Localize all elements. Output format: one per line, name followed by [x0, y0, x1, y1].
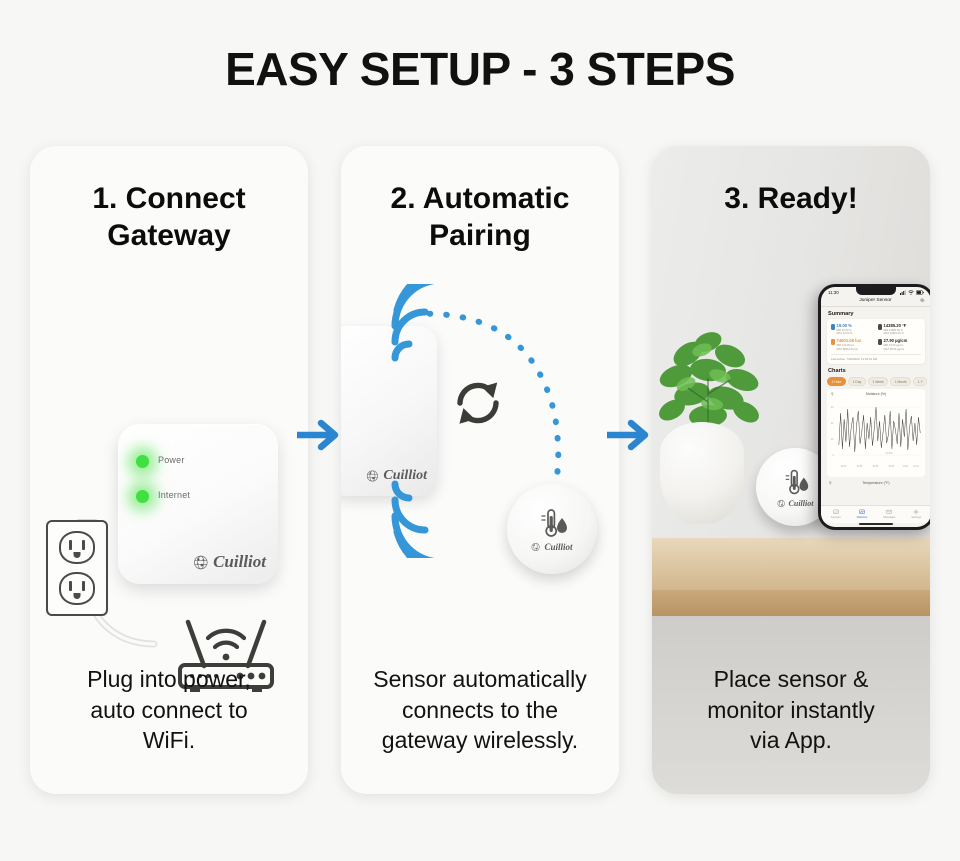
filter-1-day[interactable]: 1 Day — [848, 377, 866, 386]
step-3-caption-line-2: monitor instantly — [666, 695, 916, 726]
svg-text:20: 20 — [831, 422, 834, 425]
step-2-scene: Cuilliot — [341, 276, 619, 666]
svg-text:10:40: 10:40 — [872, 465, 878, 468]
svg-text:10: 10 — [831, 438, 834, 441]
metric-max: MAX 38.00 µg/cm — [884, 348, 908, 351]
brand-logo: Cuilliot — [193, 552, 266, 572]
step-3-title-line-1: 3. Ready! — [652, 180, 930, 217]
sync-icon — [447, 372, 509, 434]
chart-title: Moisture (%) — [866, 392, 886, 396]
step-1-title-line-1: 1. Connect — [30, 180, 308, 217]
wifi-icon — [908, 290, 914, 295]
metric-max: MAX 88210.00 lux — [837, 348, 862, 351]
globe-logo-icon — [366, 469, 380, 483]
page-title: EASY SETUP - 3 STEPS — [0, 0, 960, 92]
step-2-title-line-2: Pairing — [341, 217, 619, 254]
magnifier-icon[interactable]: ⚲ — [829, 481, 831, 485]
metric-light: 74501.08 lux MIN 120.00 lux MAX 88210.00… — [831, 338, 874, 350]
light-icon — [831, 339, 835, 345]
step-1-caption-line-2: auto connect to — [44, 695, 294, 726]
home-indicator — [859, 523, 893, 525]
step-2-title-line-1: 2. Automatic — [341, 180, 619, 217]
svg-text:11:10: 11:10 — [913, 465, 919, 468]
step-1-title-line-2: Gateway — [30, 217, 308, 254]
gear-icon[interactable] — [920, 298, 925, 303]
arrow-right-icon — [607, 413, 651, 457]
app-header: chevron-left-icon Juniper Sensor — [821, 296, 930, 307]
status-time: 11:30 — [828, 290, 839, 295]
temperature-icon — [878, 324, 882, 330]
metric-value: 14385.20 °F — [884, 323, 907, 328]
metric-body: 14385.20 °F MIN 13820.00 °F MAX 14901.00… — [884, 323, 907, 335]
wall-outlet — [46, 520, 108, 616]
conductivity-icon — [878, 339, 882, 345]
messages-icon[interactable] — [886, 509, 892, 515]
wooden-shelf-front — [652, 590, 930, 616]
metric-max: MAX 23.00 % — [837, 332, 853, 335]
moisture-icon — [831, 324, 835, 330]
filter-1-hour[interactable]: 1 Hour — [827, 377, 846, 386]
bottom-tab-bar[interactable]: Sensors Statistics — [821, 505, 930, 523]
step-2-caption: Sensor automatically connects to the gat… — [341, 664, 619, 756]
chart-header: ⚲ Moisture (%) — [830, 391, 922, 397]
step-1-caption: Plug into power, auto connect to WiFi. — [30, 664, 308, 756]
metric-value: 19.00 % — [837, 323, 853, 328]
tab-label: Statistics — [857, 516, 868, 519]
metric-max: MAX 14901.00 °F — [884, 332, 907, 335]
globe-logo-icon — [193, 554, 210, 571]
step-card-2[interactable]: 2. Automatic Pairing Cuilliot — [341, 146, 619, 794]
sensors-icon[interactable] — [833, 509, 839, 515]
tab-settings[interactable]: Settings — [911, 509, 921, 519]
plant-pot — [660, 422, 744, 524]
last-active-text: Last Active: 7/00/2023, 11:18:01 AM — [831, 354, 921, 361]
phone-notch — [856, 287, 896, 295]
summary-card: 19.00 % MIN 15.00 % MAX 23.00 % 14385.20… — [827, 319, 925, 364]
wifi-signal-arcs-top-icon — [391, 284, 461, 362]
chart-range-filters[interactable]: 1 Hour 1 Day 1 Week 1 Month 1 Y — [821, 376, 930, 389]
filter-1-month[interactable]: 1 Month — [890, 377, 911, 386]
filter-1-year[interactable]: 1 Y — [913, 377, 927, 386]
power-led-label: Power — [158, 455, 185, 465]
step-2-caption-line-3: gateway wirelessly. — [355, 725, 605, 756]
brand-name: Cuilliot — [789, 499, 814, 508]
tab-label: Settings — [911, 516, 921, 519]
globe-logo-icon — [777, 499, 786, 508]
metric-value: 74501.08 lux — [837, 338, 862, 343]
internet-led-icon — [136, 490, 149, 503]
brand-logo: Cuilliot — [777, 499, 814, 508]
battery-icon — [916, 290, 924, 295]
brand-name: Cuilliot — [213, 552, 266, 572]
step-1-caption-line-3: WiFi. — [44, 725, 294, 756]
step-card-3[interactable]: Cuilliot 11:30 — [652, 146, 930, 794]
phone-screen[interactable]: 11:30 — [821, 287, 930, 527]
status-icons — [900, 290, 924, 295]
step-2-caption-line-1: Sensor automatically — [355, 664, 605, 695]
internet-led-label: Internet — [158, 490, 190, 500]
outlet-prong-right — [82, 581, 85, 591]
outlet-prong-left — [69, 540, 72, 550]
outlet-socket-bottom — [59, 572, 95, 605]
metric-body: 27.90 µg/cm MIN 19.00 µg/cm MAX 38.00 µg… — [884, 338, 908, 350]
metric-temperature: 14385.20 °F MIN 13820.00 °F MAX 14901.00… — [878, 323, 921, 335]
outlet-ground-pin — [74, 552, 81, 558]
metric-body: 74501.08 lux MIN 120.00 lux MAX 88210.00… — [837, 338, 862, 350]
step-1-caption-line-1: Plug into power, — [44, 664, 294, 695]
chart-moisture[interactable]: ⚲ Moisture (%) 3020 — [827, 389, 925, 477]
outlet-prong-right — [82, 540, 85, 550]
brand-name: Cuilliot — [544, 542, 572, 552]
globe-logo-icon — [531, 542, 541, 552]
svg-text:10:36: 10:36 — [857, 465, 863, 468]
charts-heading: Charts — [821, 364, 930, 376]
temperature-humidity-sensor: Cuilliot — [507, 484, 597, 574]
summary-grid: 19.00 % MIN 15.00 % MAX 23.00 % 14385.20… — [831, 323, 921, 351]
filter-1-week[interactable]: 1 Week — [868, 377, 888, 386]
magnifier-icon[interactable]: ⚲ — [831, 392, 833, 396]
outlet-ground-pin — [74, 593, 81, 599]
svg-text:30: 30 — [831, 406, 834, 409]
metric-value: 27.90 µg/cm — [884, 338, 908, 343]
cellular-icon — [900, 290, 906, 295]
svg-text:0: 0 — [833, 454, 835, 457]
step-2-caption-line-2: connects to the — [355, 695, 605, 726]
svg-text:10:50: 10:50 — [888, 465, 894, 468]
svg-text:10:30: 10:30 — [841, 465, 847, 468]
metric-body: 19.00 % MIN 15.00 % MAX 23.00 % — [837, 323, 853, 335]
metric-moisture: 19.00 % MIN 15.00 % MAX 23.00 % — [831, 323, 874, 335]
step-3-caption: Place sensor & monitor instantly via App… — [652, 664, 930, 756]
thermometer-humidity-icon — [535, 506, 569, 540]
tab-sensors[interactable]: Sensors — [831, 509, 841, 519]
step-3-caption-line-3: via App. — [666, 725, 916, 756]
step-1-scene: Power Internet Cuilliot — [30, 276, 308, 666]
svg-text:-10.00%: -10.00% — [885, 453, 893, 455]
smartphone[interactable]: 11:30 — [818, 284, 930, 530]
metric-min: MIN 120.00 lux — [837, 344, 862, 347]
metric-min: MIN 19.00 µg/cm — [884, 344, 908, 347]
wifi-signal-arcs-bottom-icon — [391, 480, 461, 558]
chart-temperature-header: ⚲ Temperature (°F) — [821, 479, 930, 486]
step-card-1[interactable]: 1. Connect Gateway Power Internet — [30, 146, 308, 794]
thermometer-humidity-icon — [780, 467, 810, 497]
step-3-caption-line-1: Place sensor & — [666, 664, 916, 695]
tab-label: Sensors — [831, 516, 841, 519]
chart-icon[interactable] — [859, 509, 865, 515]
gear-icon[interactable] — [920, 298, 925, 303]
svg-text:11:00: 11:00 — [903, 465, 909, 468]
tab-label: Messages — [883, 516, 895, 519]
summary-heading: Summary — [821, 307, 930, 319]
metric-conductivity: 27.90 µg/cm MIN 19.00 µg/cm MAX 38.00 µg… — [878, 338, 921, 350]
app-header-title: Juniper Sensor — [859, 298, 891, 303]
chart-canvas: 3020 100 10:3010:36 10:4010:50 11:0011:1… — [830, 397, 922, 471]
arrow-right-icon — [297, 413, 341, 457]
outlet-prong-left — [69, 581, 72, 591]
step-1-title: 1. Connect Gateway — [30, 180, 308, 254]
chart-title: Temperature (°F) — [862, 481, 889, 485]
tab-messages[interactable]: Messages — [883, 509, 895, 519]
brand-logo: Cuilliot — [531, 542, 572, 552]
gateway-device: Power Internet Cuilliot — [118, 424, 278, 584]
settings-icon[interactable] — [913, 509, 919, 515]
step-3-title: 3. Ready! — [652, 180, 930, 217]
steps-row: 1. Connect Gateway Power Internet — [30, 146, 930, 794]
step-2-title: 2. Automatic Pairing — [341, 180, 619, 254]
sensor-face: Cuilliot — [507, 484, 597, 574]
tab-statistics[interactable]: Statistics — [857, 509, 868, 519]
outlet-socket-top — [59, 531, 95, 564]
power-led-icon — [136, 455, 149, 468]
